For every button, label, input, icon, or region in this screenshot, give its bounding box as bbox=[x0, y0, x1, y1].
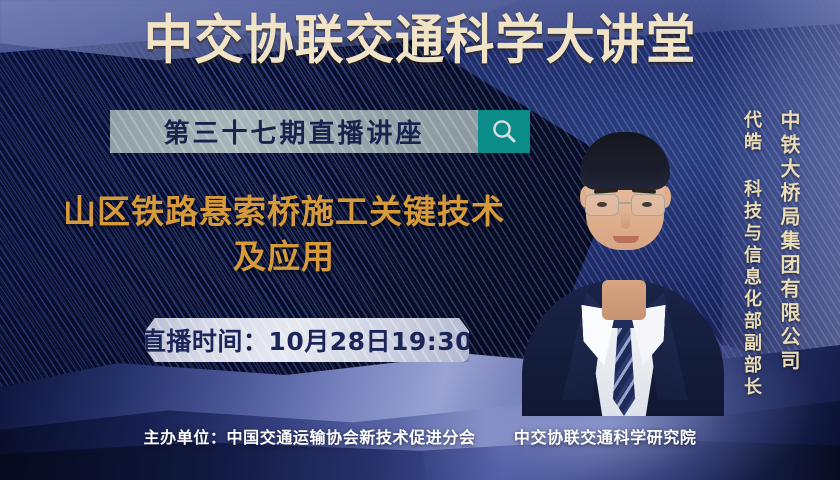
episode-bar: 第三十七期直播讲座 bbox=[110, 110, 530, 153]
speaker-name-title: 代皓 科技与信息化部副部长 bbox=[738, 110, 764, 399]
search-button[interactable] bbox=[478, 110, 530, 153]
speaker-mouth bbox=[613, 236, 639, 243]
subtitle-line-1: 山区铁路悬索桥施工关键技术 bbox=[24, 190, 544, 235]
live-time-text: 直播时间：10月28日19:30 bbox=[145, 322, 469, 358]
speaker-portrait bbox=[528, 86, 718, 416]
lecture-subtitle: 山区铁路悬索桥施工关键技术 及应用 bbox=[24, 190, 544, 280]
episode-label: 第三十七期直播讲座 bbox=[163, 113, 424, 150]
live-time-badge: 直播时间：10月28日19:30 bbox=[145, 318, 469, 362]
glasses-lens-left bbox=[585, 194, 619, 216]
speaker-hair bbox=[580, 132, 670, 190]
webinar-poster: 中交协联交通科学大讲堂 第三十七期直播讲座 山区铁路悬索桥施工关键技术 及应用 … bbox=[0, 0, 840, 480]
speaker-nose bbox=[621, 212, 630, 229]
footer-organizers: 主办单位：中国交通运输协会新技术促进分会 中交协联交通科学研究院 bbox=[0, 424, 840, 448]
footer-organizer-primary: 主办单位：中国交通运输协会新技术促进分会 bbox=[144, 428, 476, 447]
subtitle-line-2: 及应用 bbox=[24, 235, 544, 280]
search-icon bbox=[489, 117, 519, 147]
glasses-lens-right bbox=[631, 194, 665, 216]
page-title: 中交协联交通科学大讲堂 bbox=[29, 14, 810, 67]
episode-bar-body: 第三十七期直播讲座 bbox=[110, 110, 478, 153]
footer-organizer-secondary: 中交协联交通科学研究院 bbox=[514, 428, 697, 447]
speaker-organization: 中铁大桥局集团有限公司 bbox=[775, 110, 804, 374]
speaker-neck bbox=[602, 280, 646, 320]
glasses-bridge bbox=[619, 202, 631, 204]
